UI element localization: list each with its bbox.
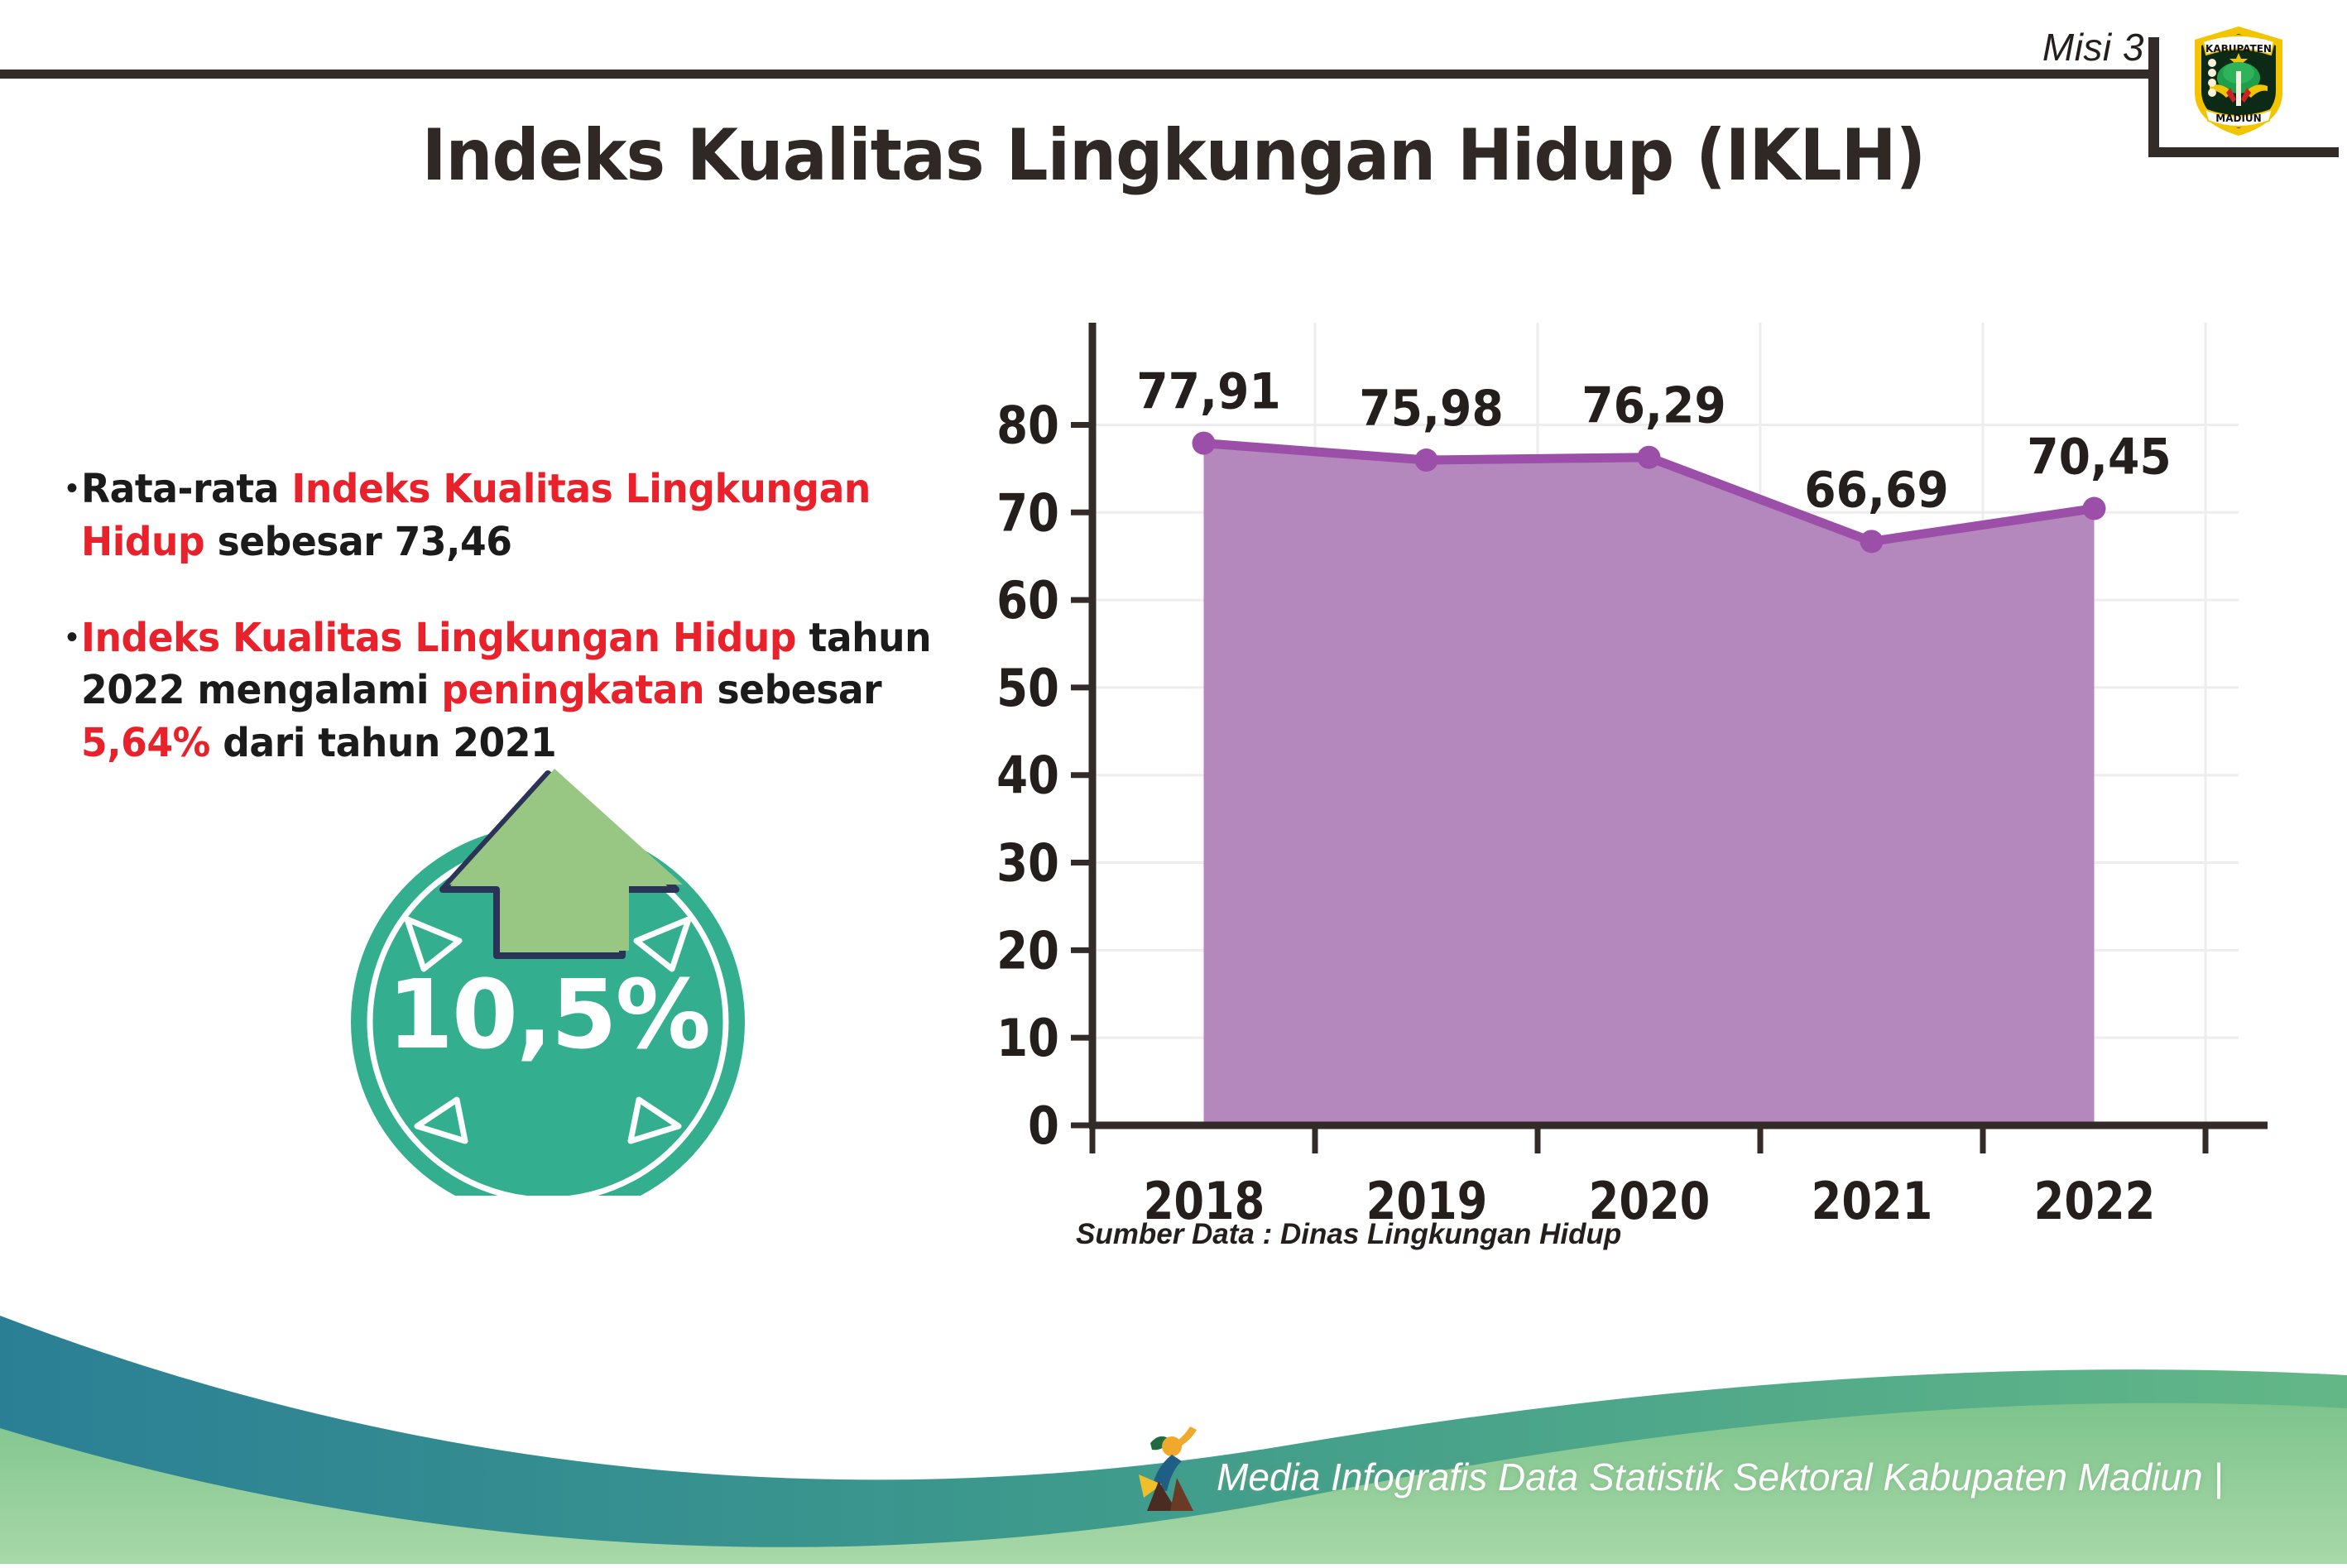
highlight-text-2: Indeks Kualitas Lingkungan Hidup tahun 2…: [81, 612, 932, 770]
logo-top-text: KABUPATEN: [2205, 43, 2272, 55]
list-item: • Indeks Kualitas Lingkungan Hidup tahun…: [66, 612, 977, 770]
bullet-dot: •: [66, 472, 78, 505]
chart-source-note: Sumber Data : Dinas Lingkungan Hidup: [1076, 1218, 1621, 1251]
data-point-marker: [1860, 530, 1884, 553]
bullet-dot: •: [66, 621, 78, 654]
data-point-marker: [2083, 497, 2106, 520]
highlight-2-part4: sebesar: [704, 667, 881, 713]
y-axis-label: 80: [996, 396, 1059, 455]
y-axis-label: 50: [996, 659, 1059, 718]
list-item: • Rata-rata Indeks Kualitas Lingkungan H…: [66, 463, 977, 569]
highlight-1-part1: Rata-rata: [81, 466, 291, 512]
highlight-2-part5: 5,64%: [81, 720, 210, 766]
iklh-area-chart: 77,9175,9876,2966,6970,45010203040506070…: [977, 294, 2268, 1171]
data-point-label: 75,98: [1359, 379, 1504, 438]
y-axis-label: 0: [1028, 1096, 1059, 1156]
y-axis-label: 20: [996, 921, 1059, 981]
x-axis-label: 2021: [1794, 1171, 1949, 1231]
data-point-marker: [1415, 448, 1438, 472]
highlight-1-part3: sebesar 73,46: [204, 519, 511, 565]
data-point-label: 77,91: [1136, 362, 1281, 420]
y-axis-label: 40: [996, 746, 1059, 805]
badge-value: 10,5%: [352, 960, 745, 1071]
footer-caption: Media Infografis Data Statistik Sektoral…: [1217, 1455, 2223, 1499]
y-axis-label: 70: [996, 483, 1059, 543]
increase-badge: 10,5%: [331, 749, 745, 1196]
highlight-text-1: Rata-rata Indeks Kualitas Lingkungan Hid…: [81, 463, 932, 569]
data-point-label: 76,29: [1581, 376, 1726, 435]
data-point-marker: [1193, 432, 1216, 455]
y-axis-label: 10: [996, 1009, 1059, 1068]
footer-band: Media Infografis Data Statistik Sektoral…: [0, 1283, 2347, 1564]
statistik-person-icon: [1134, 1418, 1217, 1518]
y-axis-label: 60: [996, 571, 1059, 631]
data-point-label: 70,45: [2027, 427, 2172, 486]
y-axis-label: 30: [996, 833, 1059, 893]
series-area: [1204, 444, 2095, 1125]
misi-label: Misi 3: [2042, 25, 2144, 70]
data-point-marker: [1638, 446, 1661, 469]
x-axis-label: 2022: [2017, 1171, 2172, 1231]
highlight-2-part1: Indeks Kualitas Lingkungan Hidup: [81, 615, 796, 661]
highlight-2-part3: peningkatan: [441, 667, 704, 713]
page-title: Indeks Kualitas Lingkungan Hidup (IKLH): [82, 114, 2264, 197]
header-rule-horizontal: [0, 70, 2157, 79]
data-point-label: 66,69: [1804, 460, 1949, 519]
